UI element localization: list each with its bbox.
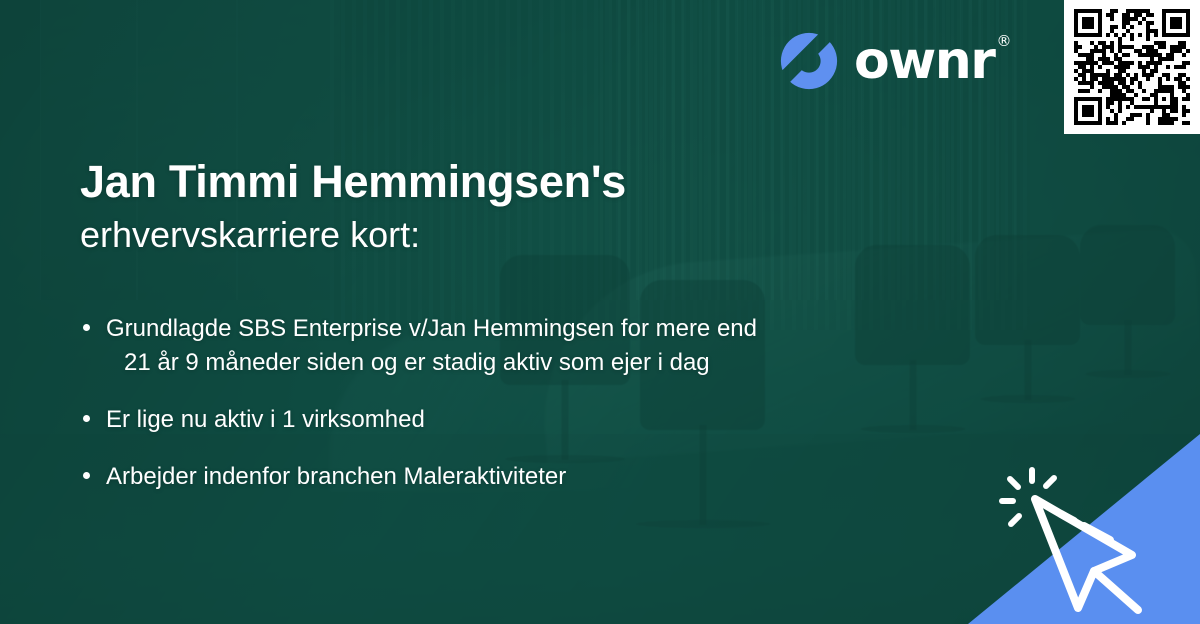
- list-item: Er lige nu aktiv i 1 virksomhed: [80, 403, 980, 437]
- ownr-wordmark-text: ownr: [854, 31, 994, 91]
- career-facts-list: Grundlagde SBS Enterprise v/Jan Hemmings…: [80, 312, 980, 517]
- ownr-wordmark: ownr®: [854, 35, 1010, 87]
- list-item: Grundlagde SBS Enterprise v/Jan Hemmings…: [80, 312, 980, 380]
- promo-card: ownr® Jan Timmi Hemmingsen's erhvervskar…: [0, 0, 1200, 624]
- bullet-dot-icon: [83, 472, 90, 479]
- qr-code-panel[interactable]: [1064, 0, 1200, 134]
- bullet-dot-icon: [83, 415, 90, 422]
- list-item-continuation: 21 år 9 måneder siden og er stadig aktiv…: [106, 346, 980, 380]
- ownr-circle-mark: [778, 30, 840, 92]
- list-item-text: Er lige nu aktiv i 1 virksomhed: [106, 406, 425, 433]
- list-item-text: Arbejder indenfor branchen Maleraktivite…: [106, 463, 566, 490]
- list-item-text: Grundlagde SBS Enterprise v/Jan Hemmings…: [106, 315, 757, 342]
- headline-line-2: erhvervskarriere kort:: [80, 212, 626, 259]
- registered-trademark-icon: ®: [996, 32, 1010, 50]
- bullet-dot-icon: [83, 324, 90, 331]
- headline-line-1: Jan Timmi Hemmingsen's: [80, 155, 626, 208]
- ownr-logo[interactable]: ownr®: [778, 30, 1010, 92]
- list-item: Arbejder indenfor branchen Maleraktivite…: [80, 460, 980, 494]
- qr-code[interactable]: [1074, 9, 1190, 125]
- page-title: Jan Timmi Hemmingsen's erhvervskarriere …: [80, 155, 626, 259]
